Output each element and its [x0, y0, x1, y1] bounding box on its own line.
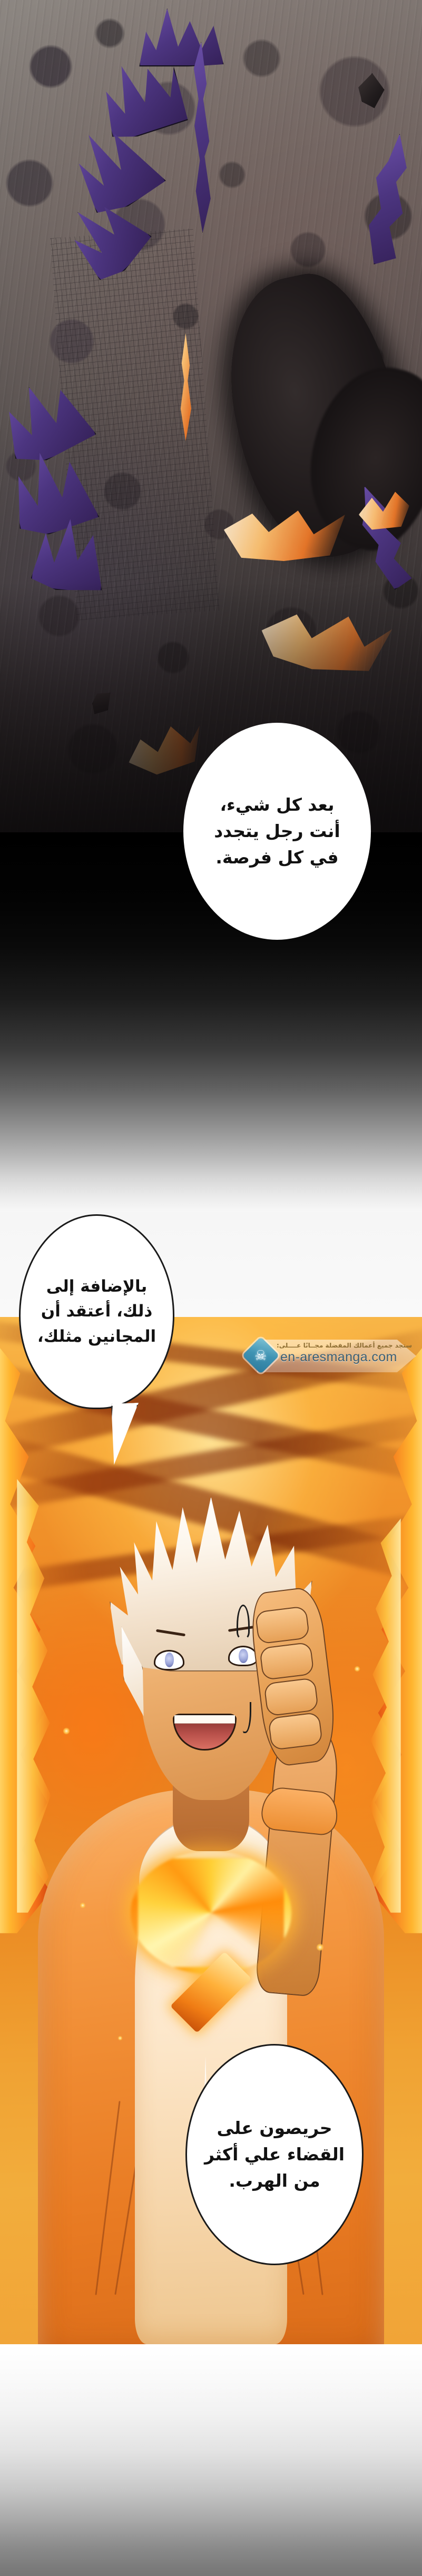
spark-particle [355, 1666, 360, 1672]
speech-bubble-third: حريصون علىالقضاء علي أكثرمن الهرب. [185, 2044, 364, 2265]
speech-bubble-first-text: بعد كل شيء،أنت رجل يتجددفي كل فرصة. [214, 792, 340, 871]
speech-bubble-second: بالإضافة إلىذلك، أعتقد أنالمجانين مثلك، [19, 1214, 174, 1409]
comic-page: بعد كل شيء،أنت رجل يتجددفي كل فرصة. بالإ… [0, 0, 422, 2576]
panel-dark-battlefield [0, 0, 422, 832]
spark-particle [63, 1728, 70, 1734]
finger [268, 1712, 323, 1751]
speech-bubble-third-text: حريصون علىالقضاء علي أكثرمن الهرب. [204, 2115, 345, 2194]
iris [239, 1649, 248, 1664]
teeth [174, 1715, 234, 1724]
spark-particle [80, 1903, 85, 1908]
fire-necklace-icon [131, 1851, 291, 1974]
panel-bottom-gradient [0, 2344, 422, 2576]
speech-bubble-second-text: بالإضافة إلىذلك، أعتقد أنالمجانين مثلك، [37, 1274, 156, 1349]
finger [263, 1677, 319, 1716]
spark-particle [317, 1944, 323, 1951]
finger [259, 1641, 314, 1680]
iris [165, 1653, 174, 1667]
speech-bubble-first: بعد كل شيء،أنت رجل يتجددفي كل فرصة. [183, 723, 371, 940]
jacket-seam [95, 2101, 121, 2295]
finger [254, 1606, 310, 1645]
